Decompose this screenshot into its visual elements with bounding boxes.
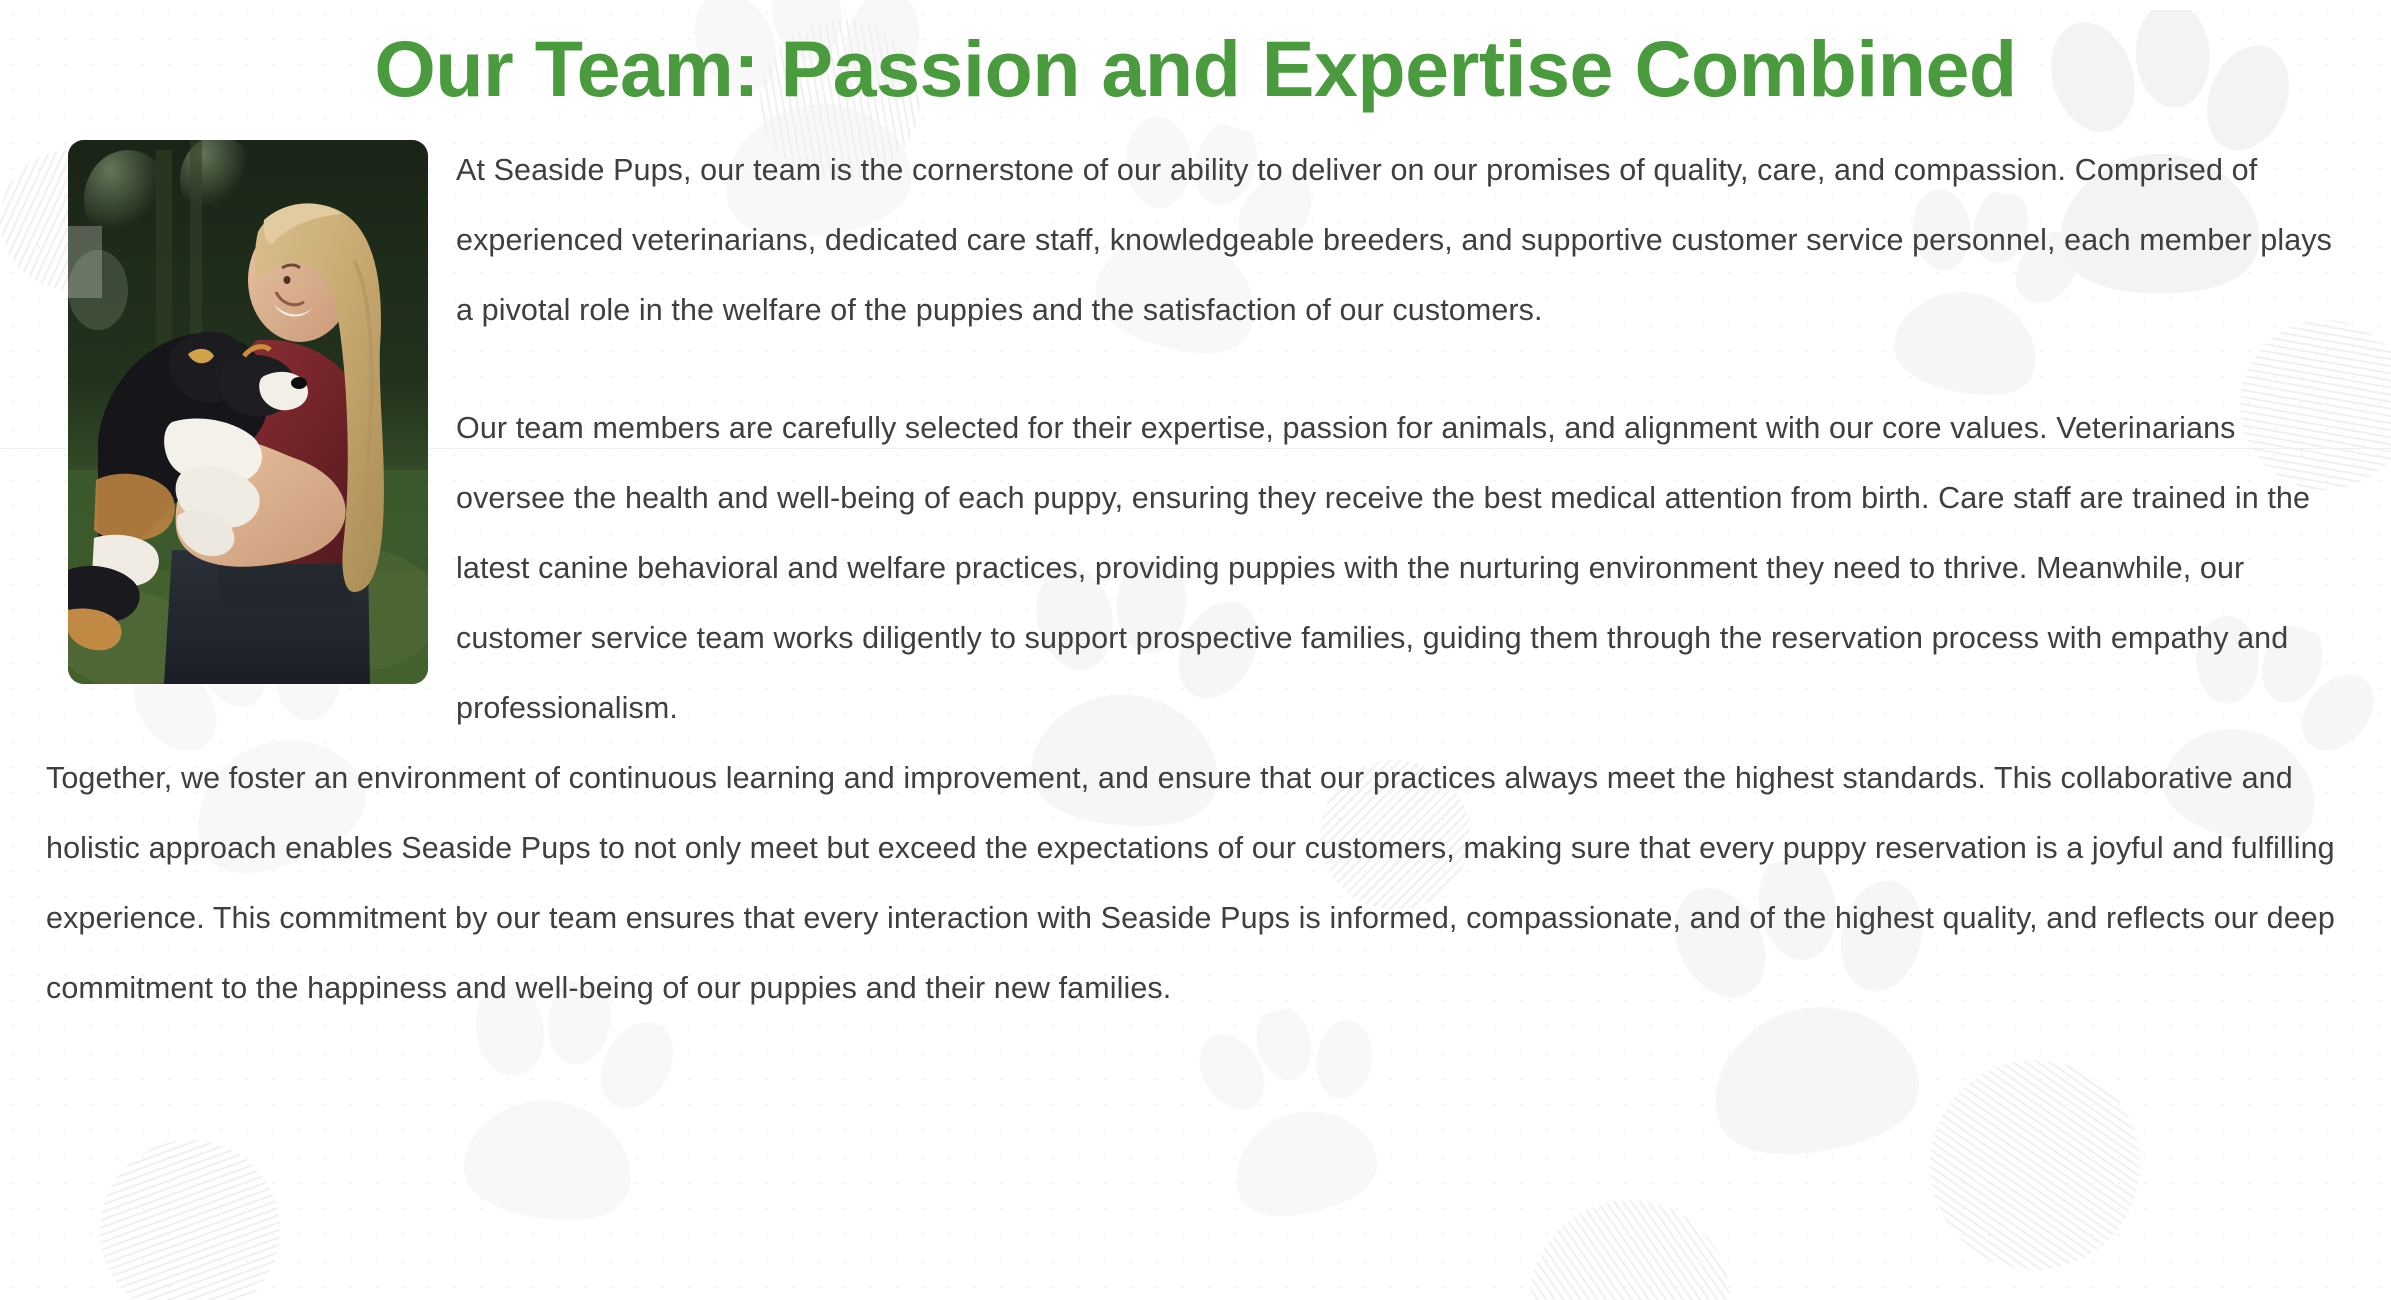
team-section: Our Team: Passion and Expertise Combined [0,0,2391,1300]
paragraph-3: Together, we foster an environment of co… [46,743,2345,1023]
page-title: Our Team: Passion and Expertise Combined [46,0,2345,111]
team-article: At Seaside Pups, our team is the corners… [46,135,2345,1023]
team-photo [68,140,428,684]
